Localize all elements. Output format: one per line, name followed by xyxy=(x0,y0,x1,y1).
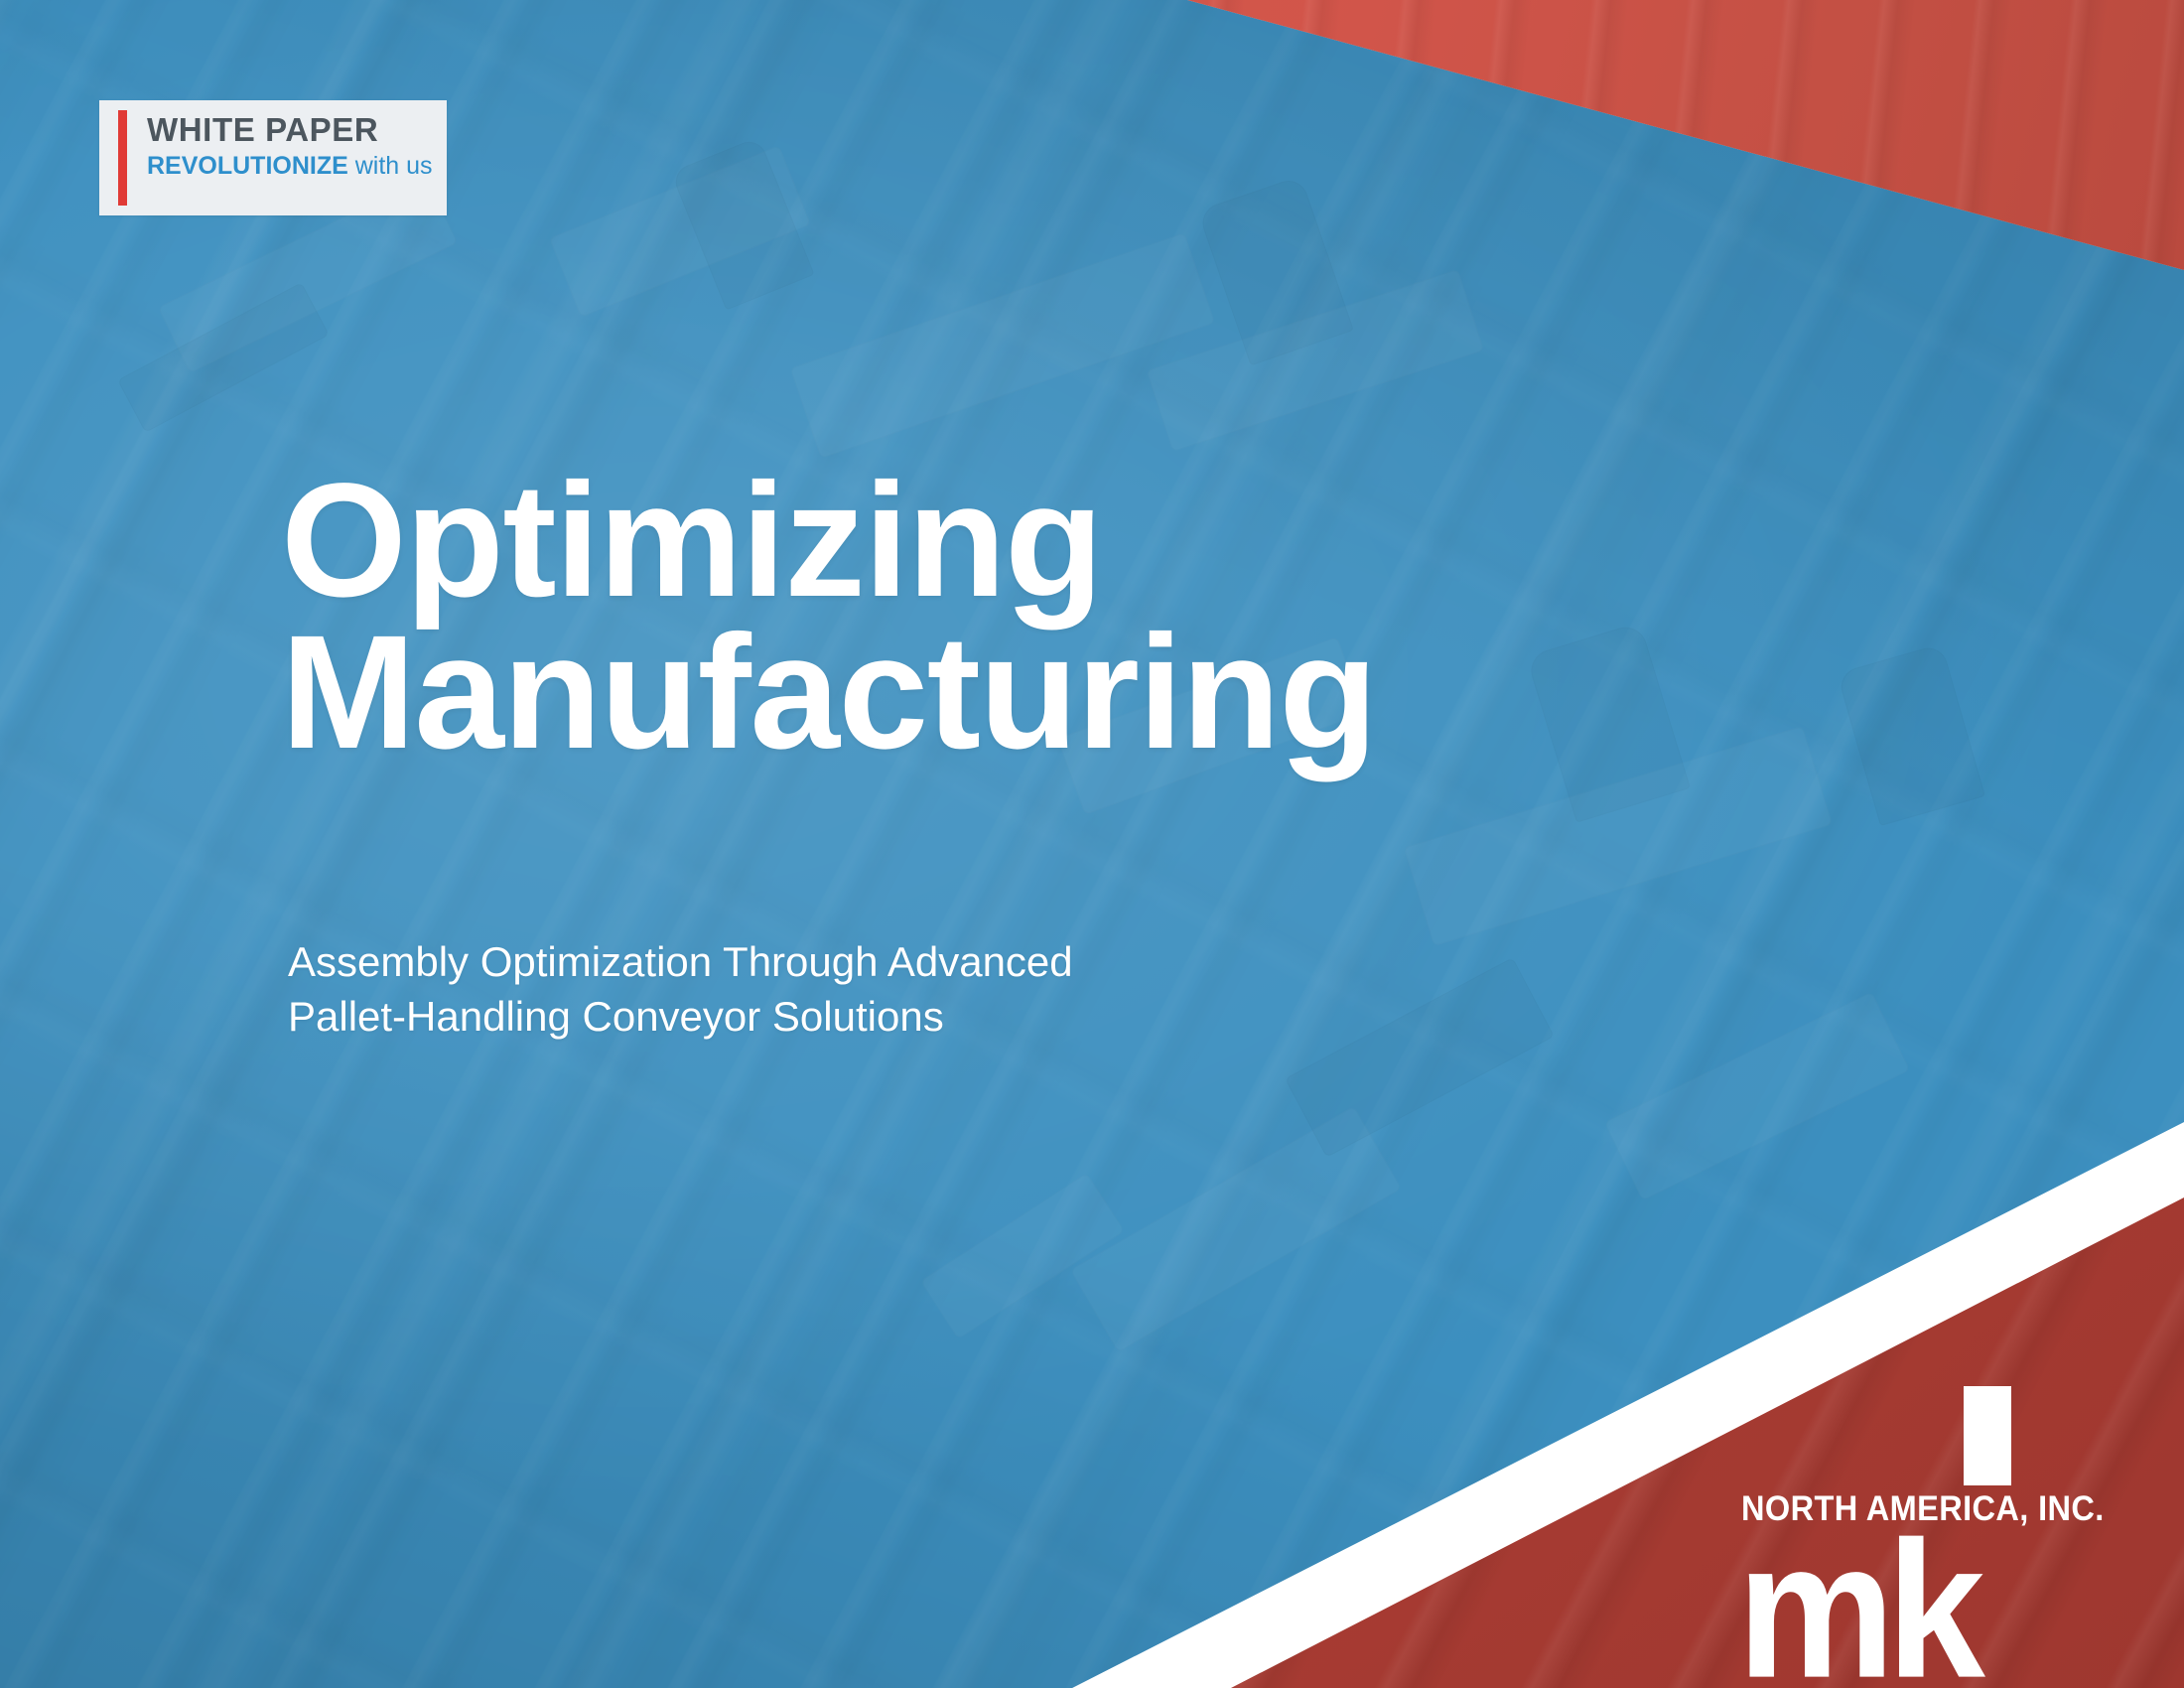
page-subtitle-line-2: Pallet-Handling Conveyor Solutions xyxy=(288,989,1073,1044)
badge-tagline: REVOLUTIONIZE with us xyxy=(147,150,433,182)
badge-tagline-bold: REVOLUTIONIZE xyxy=(147,152,348,180)
page-title-line-1: Optimizing xyxy=(281,464,1376,616)
badge-accent-bar xyxy=(118,110,127,206)
logo-wordmark: mk xyxy=(1737,1513,1978,1688)
page-subtitle: Assembly Optimization Through Advanced P… xyxy=(288,934,1073,1044)
mk-north-america-logo: NORTH AMERICA, INC. mk xyxy=(1741,1386,2118,1634)
badge-text-group: WHITE PAPER REVOLUTIONIZE with us xyxy=(127,100,433,215)
badge-label: WHITE PAPER xyxy=(147,109,433,150)
white-paper-badge: WHITE PAPER REVOLUTIONIZE with us xyxy=(99,100,447,215)
white-paper-cover: WHITE PAPER REVOLUTIONIZE with us Optimi… xyxy=(0,0,2184,1688)
logo-i-bar-icon xyxy=(1964,1386,2011,1485)
page-subtitle-line-1: Assembly Optimization Through Advanced xyxy=(288,934,1073,989)
badge-tagline-rest: with us xyxy=(348,152,433,180)
page-title-line-2: Manufacturing xyxy=(281,616,1376,768)
page-title: Optimizing Manufacturing xyxy=(281,464,1376,768)
